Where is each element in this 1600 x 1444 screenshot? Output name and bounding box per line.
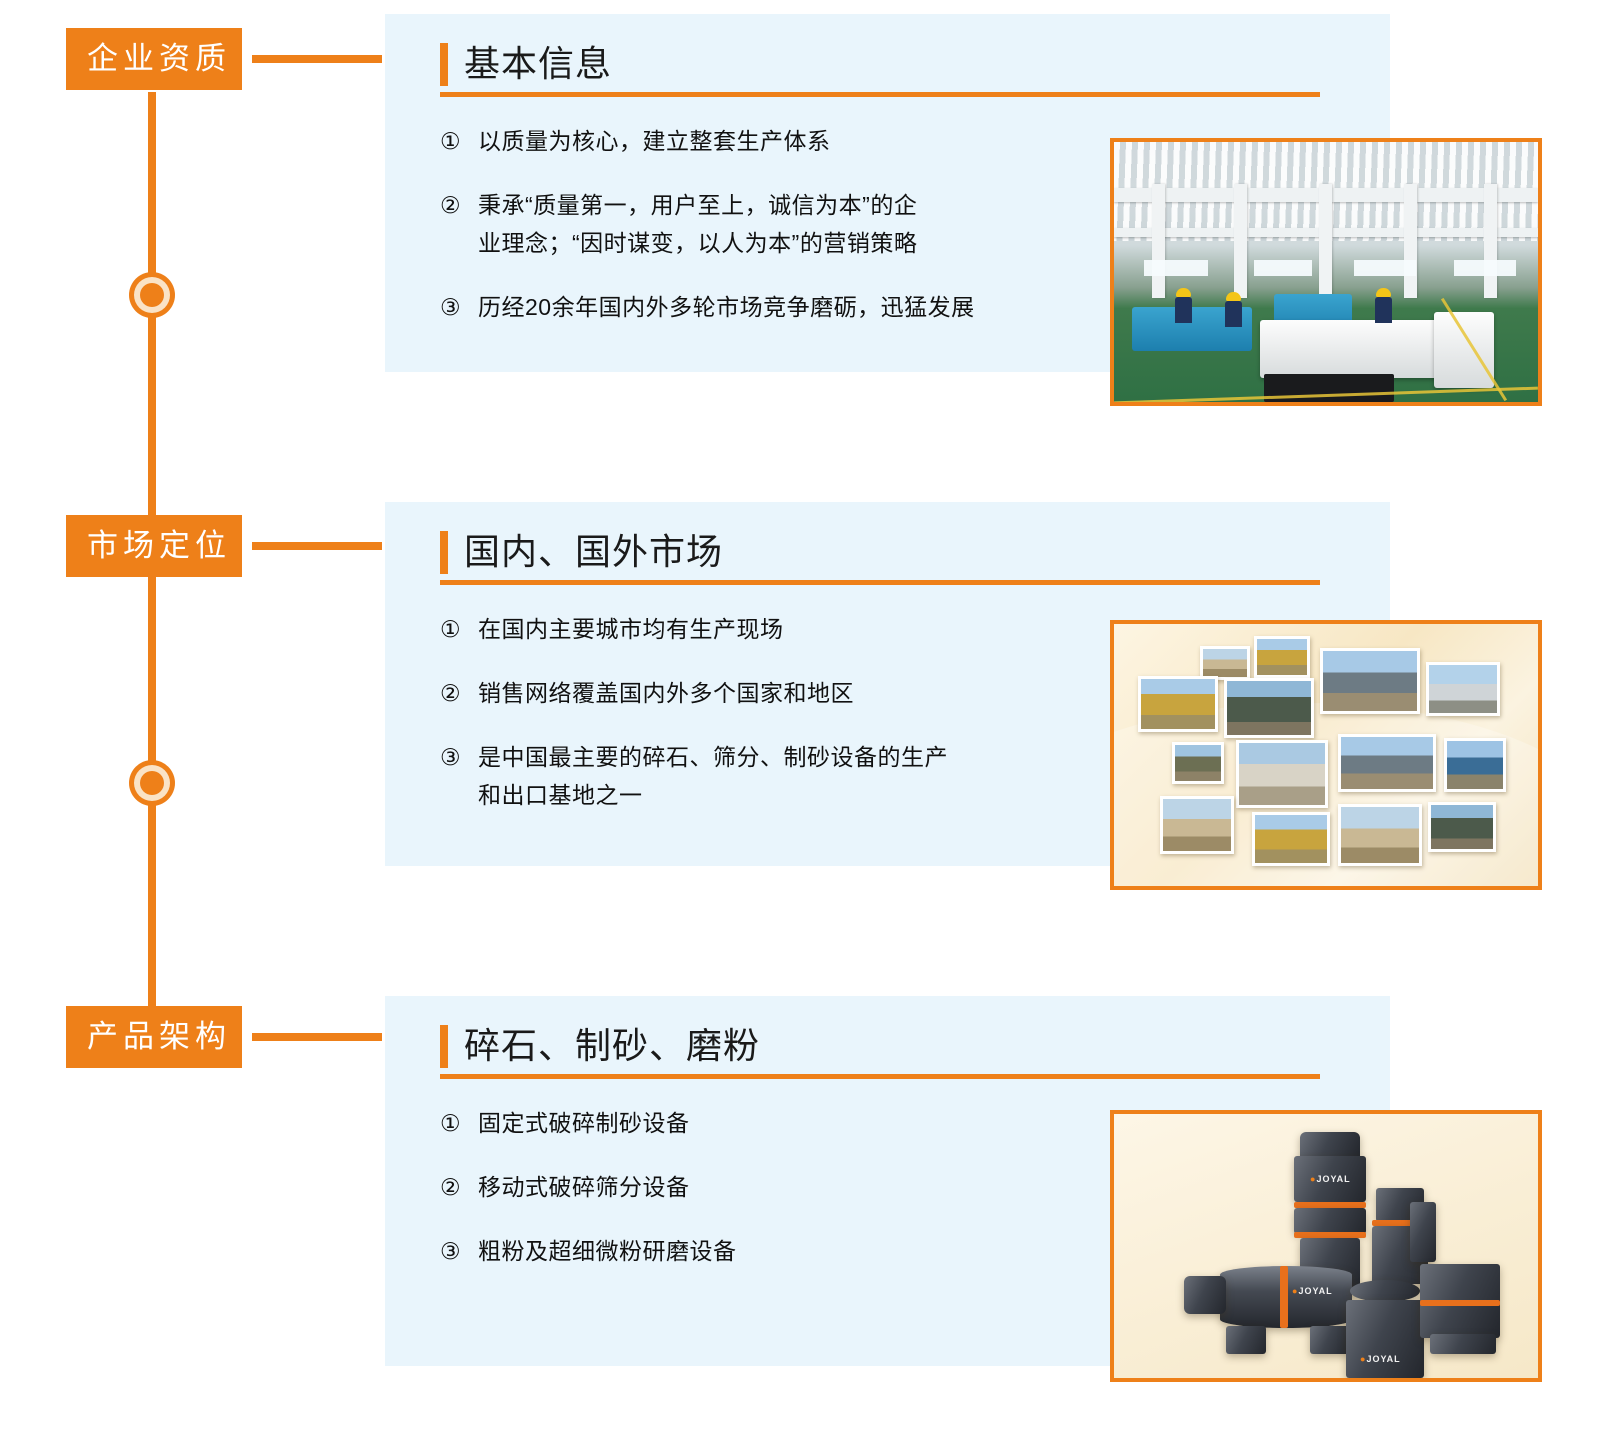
number-marker-icon: ② (440, 1168, 478, 1206)
list-item: ③ 是中国最主要的碎石、筛分、制砂设备的生产 和出口基地之一 (440, 738, 1140, 814)
list-item-text: 销售网络覆盖国内外多个国家和地区 (478, 674, 854, 712)
section-heading-text: 基本信息 (464, 42, 612, 86)
section-heading-3: 碎石、制砂、磨粉 (440, 1024, 1320, 1079)
number-marker-icon: ③ (440, 738, 478, 776)
list-item-text: 以质量为核心，建立整套生产体系 (478, 122, 831, 160)
bullet-list-2: ① 在国内主要城市均有生产现场 ② 销售网络覆盖国内外多个国家和地区 ③ 是中国… (440, 610, 1140, 840)
stage-tag-qualification[interactable]: 企业资质 (66, 28, 242, 90)
list-item-text: 秉承“质量第一，用户至上，诚信为本”的企 业理念；“因时谋变，以人为本”的营销策… (478, 186, 917, 262)
list-item: ① 固定式破碎制砂设备 (440, 1104, 1140, 1142)
list-item-text: 固定式破碎制砂设备 (478, 1104, 690, 1142)
timeline-node-ring (134, 277, 170, 313)
list-item: ② 销售网络覆盖国内外多个国家和地区 (440, 674, 1140, 712)
timeline-node-core (140, 283, 164, 307)
heading-accent-bar-icon (440, 531, 448, 574)
section-image-factory (1110, 138, 1542, 406)
list-item-text: 移动式破碎筛分设备 (478, 1168, 690, 1206)
section-heading-2: 国内、国外市场 (440, 530, 1320, 585)
section-heading-text: 碎石、制砂、磨粉 (464, 1024, 760, 1068)
list-item-text: 粗粉及超细微粉研磨设备 (478, 1232, 737, 1270)
connector-line-3 (252, 1033, 382, 1041)
list-item: ① 以质量为核心，建立整套生产体系 (440, 122, 1140, 160)
number-marker-icon: ② (440, 674, 478, 712)
section-image-collage (1110, 620, 1542, 890)
heading-accent-bar-icon (440, 1025, 448, 1068)
bullet-list-3: ① 固定式破碎制砂设备 ② 移动式破碎筛分设备 ③ 粗粉及超细微粉研磨设备 (440, 1104, 1140, 1296)
timeline-node-1 (129, 272, 175, 318)
number-marker-icon: ③ (440, 1232, 478, 1270)
collage-photo (1114, 624, 1538, 886)
bullet-list-1: ① 以质量为核心，建立整套生产体系 ② 秉承“质量第一，用户至上，诚信为本”的企… (440, 122, 1140, 352)
list-item-text: 是中国最主要的碎石、筛分、制砂设备的生产 和出口基地之一 (478, 738, 948, 814)
list-item: ① 在国内主要城市均有生产现场 (440, 610, 1140, 648)
list-item-text: 历经20余年国内外多轮市场竞争磨砺，迅猛发展 (478, 288, 975, 326)
number-marker-icon: ① (440, 610, 478, 648)
stage-tag-product-structure[interactable]: 产品架构 (66, 1006, 242, 1068)
list-item: ② 移动式破碎筛分设备 (440, 1168, 1140, 1206)
machinery-photo: ●JOYAL ●JOYAL ●JOYAL (1114, 1114, 1538, 1378)
list-item: ② 秉承“质量第一，用户至上，诚信为本”的企 业理念；“因时谋变，以人为本”的营… (440, 186, 1140, 262)
number-marker-icon: ① (440, 1104, 478, 1142)
number-marker-icon: ② (440, 186, 478, 224)
connector-line-2 (252, 542, 382, 550)
number-marker-icon: ① (440, 122, 478, 160)
section-heading-text: 国内、国外市场 (464, 530, 723, 574)
connector-line-1 (252, 55, 382, 63)
heading-accent-bar-icon (440, 43, 448, 86)
timeline-node-2 (129, 760, 175, 806)
number-marker-icon: ③ (440, 288, 478, 326)
list-item-text: 在国内主要城市均有生产现场 (478, 610, 784, 648)
list-item: ③ 粗粉及超细微粉研磨设备 (440, 1232, 1140, 1270)
section-image-machinery: ●JOYAL ●JOYAL ●JOYAL (1110, 1110, 1542, 1382)
stage-tag-market-position[interactable]: 市场定位 (66, 515, 242, 577)
timeline-node-ring (134, 765, 170, 801)
timeline-node-core (140, 771, 164, 795)
list-item: ③ 历经20余年国内外多轮市场竞争磨砺，迅猛发展 (440, 288, 1140, 326)
section-heading-1: 基本信息 (440, 42, 1320, 97)
factory-photo (1114, 142, 1538, 402)
